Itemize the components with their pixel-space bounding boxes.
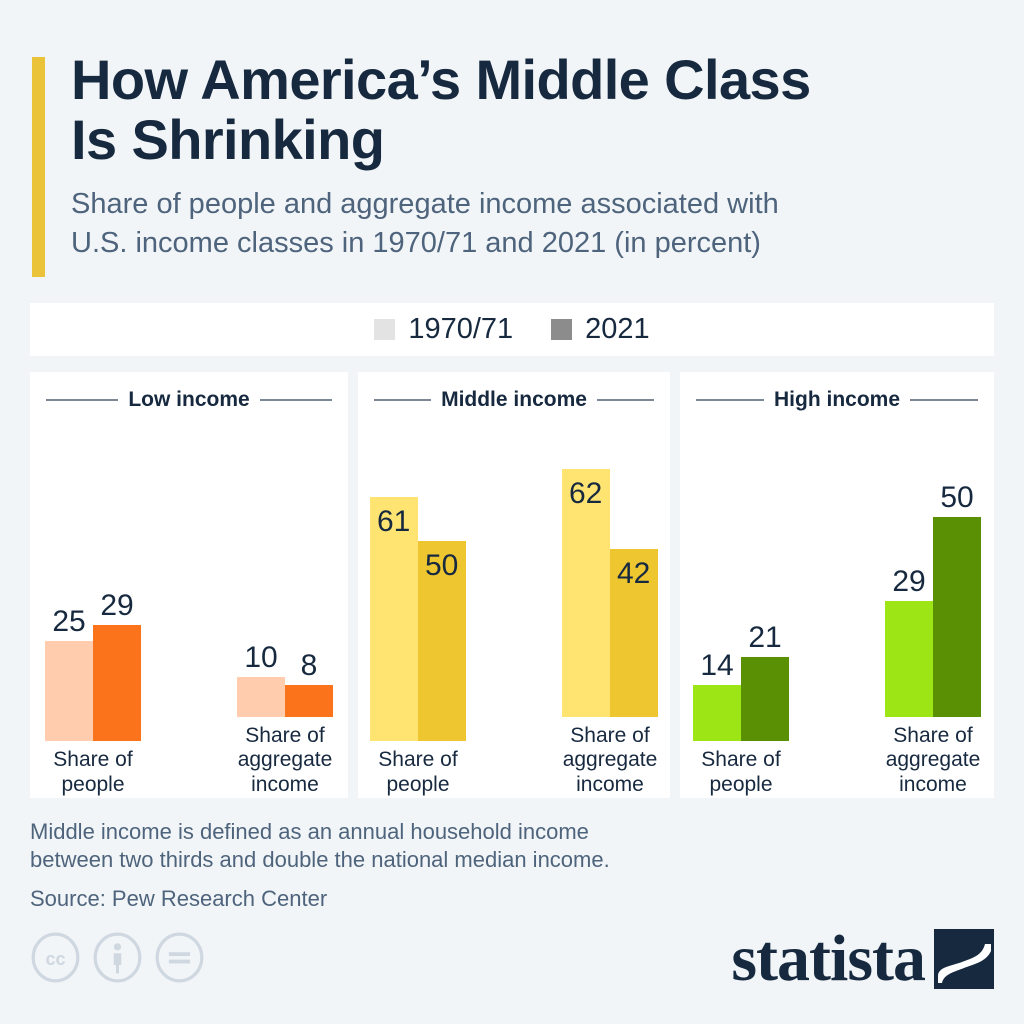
statista-logo[interactable]: statista bbox=[731, 926, 994, 992]
bar-item[interactable]: 50 bbox=[418, 493, 466, 741]
bar-item[interactable]: 29 bbox=[93, 493, 141, 741]
bar-1970[interactable] bbox=[237, 677, 285, 717]
bar-1970[interactable] bbox=[693, 685, 741, 741]
bar-2021[interactable] bbox=[741, 657, 789, 741]
bar-value-label: 14 bbox=[700, 651, 733, 681]
panel-middle-income: Middle income 61 50 bbox=[358, 372, 670, 798]
bar-2021[interactable] bbox=[93, 625, 141, 741]
legend-label: 1970/71 bbox=[408, 313, 513, 346]
bar-item[interactable]: 10 bbox=[237, 469, 285, 717]
panel-header: Low income bbox=[30, 372, 348, 412]
plot-area: 25 29 Share of people bbox=[30, 412, 348, 798]
bar-group: 62 42 Share of aggregate income bbox=[545, 469, 675, 798]
bar-item[interactable]: 61 bbox=[370, 493, 418, 741]
chart-legend: 1970/71 2021 bbox=[30, 303, 994, 356]
divider bbox=[696, 399, 764, 401]
bar-group-label: Share of aggregate income bbox=[868, 724, 998, 798]
bar-value-label: 21 bbox=[748, 623, 781, 653]
panel-header: Middle income bbox=[358, 372, 670, 412]
bar-group: 25 29 Share of people bbox=[28, 493, 158, 798]
bar-group: 29 50 Share of aggregate income bbox=[868, 469, 998, 798]
bar-group-label: Share of aggregate income bbox=[545, 724, 675, 798]
notes-block: Middle income is defined as an annual ho… bbox=[30, 818, 830, 913]
header: How America’s Middle Class Is Shrinking … bbox=[30, 50, 994, 262]
bar-value-label: 50 bbox=[940, 483, 973, 513]
cc-nd-icon[interactable] bbox=[154, 932, 205, 983]
panel-title: Middle income bbox=[441, 388, 587, 412]
panel-low-income: Low income 25 29 bbox=[30, 372, 348, 798]
bar-1970[interactable] bbox=[885, 601, 933, 717]
panel-title: Low income bbox=[128, 388, 249, 412]
infographic-root: How America’s Middle Class Is Shrinking … bbox=[0, 0, 1024, 1024]
source-text: Source: Pew Research Center bbox=[30, 885, 830, 913]
bar-item[interactable]: 14 bbox=[693, 493, 741, 741]
plot-area: 14 21 Share of people bbox=[680, 412, 994, 798]
bar-value-label: 25 bbox=[52, 607, 85, 637]
legend-swatch-icon bbox=[374, 319, 395, 340]
bar-group-label: Share of aggregate income bbox=[220, 724, 350, 798]
page-title: How America’s Middle Class Is Shrinking bbox=[71, 50, 994, 171]
bar-item[interactable]: 62 bbox=[562, 469, 610, 717]
bar-group: 61 50 Share of people bbox=[353, 493, 483, 798]
chart-panels: Low income 25 29 bbox=[30, 372, 994, 798]
legend-label: 2021 bbox=[585, 313, 650, 346]
bar-1970[interactable] bbox=[45, 641, 93, 741]
bar-group-label: Share of people bbox=[28, 748, 158, 798]
plot-area: 61 50 Share of people bbox=[358, 412, 670, 798]
bar-value-label: 50 bbox=[425, 551, 458, 581]
divider bbox=[260, 399, 332, 401]
accent-bar bbox=[32, 57, 45, 277]
bar-value-label: 8 bbox=[301, 651, 318, 681]
legend-item-2021[interactable]: 2021 bbox=[551, 313, 650, 346]
statista-mark-icon bbox=[934, 929, 994, 989]
page-subtitle: Share of people and aggregate income ass… bbox=[71, 185, 994, 262]
bar-2021[interactable] bbox=[933, 517, 981, 717]
bar-value-label: 29 bbox=[100, 591, 133, 621]
bar-group-label: Share of people bbox=[676, 748, 806, 798]
legend-swatch-icon bbox=[551, 319, 572, 340]
divider bbox=[374, 399, 431, 401]
footer: cc statista bbox=[30, 932, 994, 994]
bar-item[interactable]: 21 bbox=[741, 493, 789, 741]
bar-item[interactable]: 29 bbox=[885, 469, 933, 717]
bar-item[interactable]: 42 bbox=[610, 469, 658, 717]
cc-icon[interactable]: cc bbox=[30, 932, 81, 983]
bar-group: 14 21 Share of people bbox=[676, 493, 806, 798]
bar-value-label: 61 bbox=[377, 507, 410, 537]
bar-item[interactable]: 50 bbox=[933, 469, 981, 717]
statista-wordmark: statista bbox=[731, 926, 925, 992]
cc-by-icon[interactable] bbox=[92, 932, 143, 983]
svg-text:cc: cc bbox=[45, 949, 65, 969]
bar-group-label: Share of people bbox=[353, 748, 483, 798]
bar-item[interactable]: 25 bbox=[45, 493, 93, 741]
bar-item[interactable]: 8 bbox=[285, 469, 333, 717]
legend-item-1970[interactable]: 1970/71 bbox=[374, 313, 513, 346]
divider bbox=[910, 399, 978, 401]
panel-title: High income bbox=[774, 388, 900, 412]
bar-value-label: 62 bbox=[569, 479, 602, 509]
panel-header: High income bbox=[680, 372, 994, 412]
panel-high-income: High income 14 21 bbox=[680, 372, 994, 798]
bar-group: 10 8 Share of aggregate income bbox=[220, 469, 350, 798]
footnote: Middle income is defined as an annual ho… bbox=[30, 818, 830, 874]
license-icons: cc bbox=[30, 932, 205, 983]
bar-value-label: 42 bbox=[617, 559, 650, 589]
divider bbox=[46, 399, 118, 401]
bar-value-label: 29 bbox=[892, 567, 925, 597]
bar-value-label: 10 bbox=[244, 643, 277, 673]
divider bbox=[597, 399, 654, 401]
bar-2021[interactable] bbox=[285, 685, 333, 717]
